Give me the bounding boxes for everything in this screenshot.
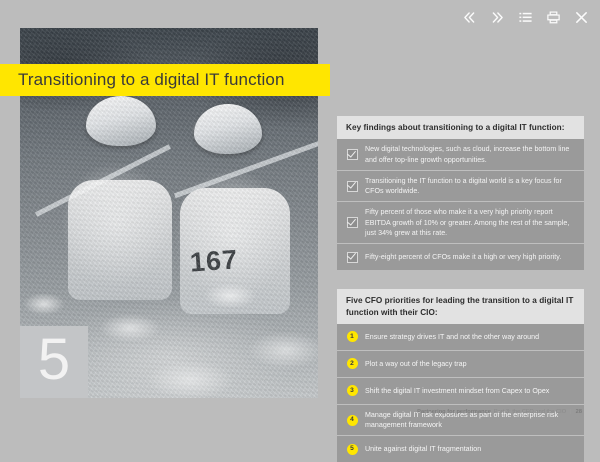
slide-page: 167 5 Transitioning to a digital IT func… [0, 0, 600, 424]
checkbox-checked-icon [347, 252, 358, 263]
section-number: 5 [38, 331, 70, 389]
prev-double-chevron-icon[interactable] [461, 9, 478, 26]
finding-row: Transitioning the IT function to a digit… [337, 171, 584, 203]
finding-row: Fifty-eight percent of CFOs make it a hi… [337, 244, 584, 270]
finding-row: New digital technologies, such as cloud,… [337, 139, 584, 171]
finding-row: Fifty percent of those who make it a ver… [337, 202, 584, 244]
viewer-toolbar [461, 7, 590, 27]
checkbox-marker [344, 181, 360, 192]
number-marker: 4 [344, 415, 360, 426]
checkbox-checked-icon [347, 217, 358, 228]
footer-separator: | [570, 409, 572, 415]
close-icon[interactable] [573, 9, 590, 26]
priority-row: 5 Unite against digital IT fragmentation [337, 436, 584, 462]
checkbox-checked-icon [347, 149, 358, 160]
contents-list-icon[interactable] [517, 9, 534, 26]
number-marker: 3 [344, 385, 360, 396]
title-banner: Transitioning to a digital IT function [0, 64, 330, 96]
page-title: Transitioning to a digital IT function [18, 70, 285, 90]
number-marker: 2 [344, 358, 360, 369]
priority-row: 1 Ensure strategy drives IT and not the … [337, 324, 584, 351]
priority-row: 2 Plot a way out of the legacy trap [337, 351, 584, 378]
cfo-priorities-header: Five CFO priorities for leading the tran… [337, 289, 584, 324]
priority-number-badge: 4 [347, 415, 358, 426]
priority-row: 3 Shift the digital IT investment mindse… [337, 378, 584, 405]
priority-number-badge: 1 [347, 331, 358, 342]
priority-number-badge: 2 [347, 358, 358, 369]
priority-number-badge: 5 [347, 444, 358, 455]
cfo-priorities-panel: Five CFO priorities for leading the tran… [337, 289, 584, 462]
finding-text: Fifty-eight percent of CFOs make it a hi… [365, 252, 561, 262]
section-number-block: 5 [20, 326, 88, 398]
print-icon[interactable] [545, 9, 562, 26]
footer-subtitle: Part 3: the CFO and the CIO [494, 409, 566, 415]
next-double-chevron-icon[interactable] [489, 9, 506, 26]
priority-text: Shift the digital IT investment mindset … [365, 386, 549, 396]
key-findings-panel: Key findings about transitioning to a di… [337, 116, 584, 270]
number-marker: 1 [344, 331, 360, 342]
checkbox-marker [344, 217, 360, 228]
key-findings-header: Key findings about transitioning to a di… [337, 116, 584, 139]
slide-footer: Partnering for performance Part 3: the C… [417, 409, 582, 415]
checkbox-checked-icon [347, 181, 358, 192]
finding-text: Transitioning the IT function to a digit… [365, 176, 575, 197]
finding-text: New digital technologies, such as cloud,… [365, 144, 575, 165]
checkbox-marker [344, 252, 360, 263]
priority-text: Plot a way out of the legacy trap [365, 359, 467, 369]
number-marker: 5 [344, 444, 360, 455]
priority-text: Ensure strategy drives IT and not the ot… [365, 332, 539, 342]
footer-page-number: 28 [576, 409, 582, 415]
priority-text: Unite against digital IT fragmentation [365, 444, 481, 454]
footer-publication: Partnering for performance [417, 409, 491, 415]
finding-text: Fifty percent of those who make it a ver… [365, 207, 575, 238]
checkbox-marker [344, 149, 360, 160]
priority-number-badge: 3 [347, 385, 358, 396]
